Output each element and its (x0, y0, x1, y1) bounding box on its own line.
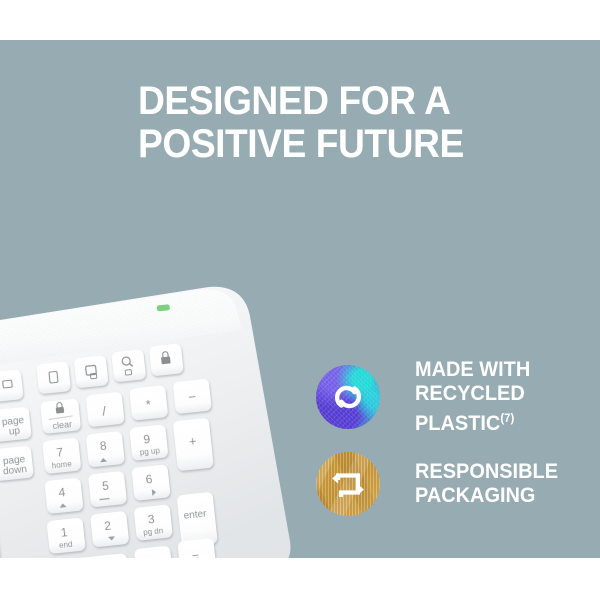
headline-line-1: DESIGNED FOR A (138, 80, 529, 123)
badge1-line-1: MADE WITH (415, 358, 530, 382)
product-feature-image: 1 2 3 (0, 0, 600, 600)
badge1-footnote: (7) (500, 411, 514, 425)
badge-recycled-plastic-label: MADE WITH RECYCLED PLASTIC(7) (415, 358, 530, 436)
badge-responsible-packaging: RESPONSIBLE PACKAGING (316, 452, 566, 516)
recycled-plastic-icon (316, 365, 380, 429)
svg-text:up: up (8, 426, 21, 438)
badge2-line-2: PACKAGING (415, 484, 558, 508)
badge1-line-3-text: PLASTIC (415, 412, 500, 435)
badge-responsible-packaging-label: RESPONSIBLE PACKAGING (415, 460, 558, 508)
headline-line-2: POSITIVE FUTURE (138, 123, 529, 166)
svg-text:−: − (188, 389, 197, 405)
svg-text:end: end (59, 540, 73, 550)
responsible-packaging-icon (316, 452, 380, 516)
keyboard-image: 1 2 3 (0, 255, 320, 558)
page-title: DESIGNED FOR A POSITIVE FUTURE (138, 80, 529, 166)
svg-text:+: + (188, 433, 197, 449)
top-white-band (0, 0, 600, 40)
svg-text:clear: clear (52, 419, 72, 431)
badge1-line-3: PLASTIC(7) (415, 406, 530, 436)
bottom-white-band (0, 558, 600, 600)
badge-recycled-plastic: MADE WITH RECYCLED PLASTIC(7) (316, 358, 536, 436)
badge1-line-2: RECYCLED (415, 382, 530, 406)
feature-panel: 1 2 3 (0, 40, 600, 558)
badge2-line-1: RESPONSIBLE (415, 460, 558, 484)
